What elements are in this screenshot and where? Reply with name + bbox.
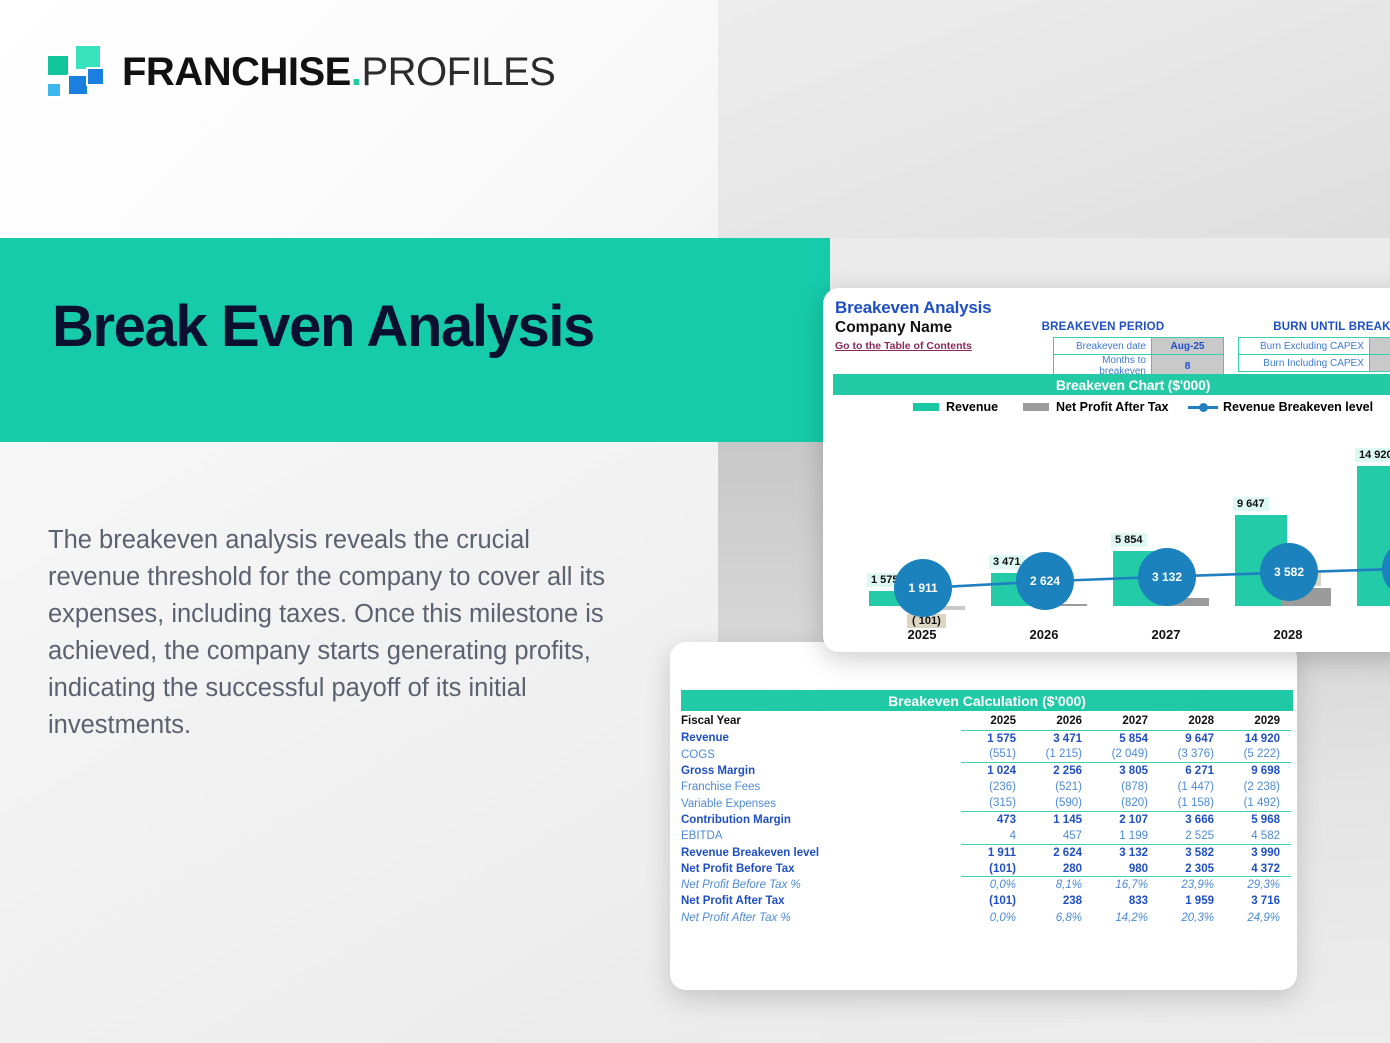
bg-panel-top-right	[718, 0, 1390, 238]
cell-6-4: 4 582	[1225, 828, 1291, 844]
column-header-2029: 2029	[1225, 714, 1291, 730]
cell-4-1: (590)	[1027, 795, 1093, 811]
cell-1-1: (1 215)	[1027, 747, 1093, 763]
cell-10-1: 238	[1027, 893, 1093, 909]
cell-0-2: 5 854	[1093, 730, 1159, 746]
cell-2-0: 1 024	[961, 763, 1027, 779]
cell-9-4: 29,3%	[1225, 877, 1291, 893]
row-label-4: Variable Expenses	[676, 795, 961, 811]
breakeven-calculation-table: Fiscal Year20252026202720282029Revenue1 …	[676, 714, 1291, 926]
cell-11-2: 14,2%	[1093, 910, 1159, 926]
legend-swatch-npat-icon	[1023, 403, 1049, 411]
breakeven-bubble-2025[interactable]: 1 911	[894, 559, 952, 617]
cell-1-0: (551)	[961, 747, 1027, 763]
table-row: Franchise Fees(236)(521)(878)(1 447)(2 2…	[676, 779, 1291, 795]
row-label-3: Franchise Fees	[676, 779, 961, 795]
cell-5-0: 473	[961, 812, 1027, 828]
cell-3-2: (878)	[1093, 779, 1159, 795]
cell-7-2: 3 132	[1093, 844, 1159, 860]
breakeven-chart-plot: 1 575( 101)1 9113 4712382 6245 8548333 1…	[823, 424, 1390, 652]
cell-5-3: 3 666	[1159, 812, 1225, 828]
table-row: Contribution Margin4731 1452 1073 6665 9…	[676, 812, 1291, 828]
row-label-9: Net Profit Before Tax %	[676, 877, 961, 893]
brand-part-two: PROFILES	[361, 50, 555, 94]
legend-item-revenue[interactable]: Revenue	[913, 400, 998, 414]
logo-square-blue-right	[86, 67, 105, 86]
table-row: Breakeven date Aug-25	[1054, 338, 1224, 355]
cell-2-2: 3 805	[1093, 763, 1159, 779]
cell-2-4: 9 698	[1225, 763, 1291, 779]
cell-11-1: 6,8%	[1027, 910, 1093, 926]
cell-11-0: 0,0%	[961, 910, 1027, 926]
cell-10-0: (101)	[961, 893, 1027, 909]
row-label-2: Gross Margin	[676, 763, 961, 779]
breakeven-bubble-2026[interactable]: 2 624	[1016, 552, 1074, 610]
logo-squares-icon	[46, 44, 104, 100]
cell-9-2: 16,7%	[1093, 877, 1159, 893]
cell-4-3: (1 158)	[1159, 795, 1225, 811]
logo-square-lightblue-bottom	[46, 82, 62, 98]
cell-0-3: 9 647	[1159, 730, 1225, 746]
cell-1-4: (5 222)	[1225, 747, 1291, 763]
column-header-2028: 2028	[1159, 714, 1225, 730]
table-row: Burn Including CAPEX	[1239, 355, 1390, 372]
brand-part-one: FRANCHISE	[122, 50, 351, 94]
cell-6-1: 457	[1027, 828, 1093, 844]
cell-0-4: 14 920	[1225, 730, 1291, 746]
cell-7-1: 2 624	[1027, 844, 1093, 860]
cell-2-3: 6 271	[1159, 763, 1225, 779]
brand-wordmark: FRANCHISE.PROFILES	[122, 52, 555, 92]
column-header-2026: 2026	[1027, 714, 1093, 730]
cell-5-1: 1 145	[1027, 812, 1093, 828]
burn-including-capex-value	[1369, 355, 1390, 372]
cell-3-4: (2 238)	[1225, 779, 1291, 795]
cell-11-3: 20,3%	[1159, 910, 1225, 926]
cell-4-0: (315)	[961, 795, 1027, 811]
table-row: Gross Margin1 0242 2563 8056 2719 698	[676, 763, 1291, 779]
cell-6-3: 2 525	[1159, 828, 1225, 844]
cell-5-2: 2 107	[1093, 812, 1159, 828]
row-label-8: Net Profit Before Tax	[676, 861, 961, 877]
legend-item-net-profit-after-tax[interactable]: Net Profit After Tax	[1023, 400, 1169, 414]
cell-3-1: (521)	[1027, 779, 1093, 795]
chart-card-company: Company Name	[835, 319, 952, 337]
intro-paragraph: The breakeven analysis reveals the cruci…	[48, 522, 628, 744]
cell-4-4: (1 492)	[1225, 795, 1291, 811]
breakeven-period-heading: BREAKEVEN PERIOD	[998, 321, 1208, 333]
cell-8-0: (101)	[961, 861, 1027, 877]
cell-10-2: 833	[1093, 893, 1159, 909]
table-row: Revenue1 5753 4715 8549 64714 920	[676, 730, 1291, 746]
column-header-2025: 2025	[961, 714, 1027, 730]
cell-8-3: 2 305	[1159, 861, 1225, 877]
cell-4-2: (820)	[1093, 795, 1159, 811]
breakeven-calculation-card: Breakeven Calculation ($'000) Fiscal Yea…	[670, 642, 1297, 990]
legend-item-revenue-breakeven-level[interactable]: Revenue Breakeven level	[1188, 400, 1373, 414]
breakeven-bubble-2028[interactable]: 3 582	[1260, 543, 1318, 601]
row-label-7: Revenue Breakeven level	[676, 844, 961, 860]
table-row: COGS(551)(1 215)(2 049)(3 376)(5 222)	[676, 747, 1291, 763]
burn-excluding-capex-value	[1369, 338, 1390, 355]
cell-1-2: (2 049)	[1093, 747, 1159, 763]
table-row: Net Profit After Tax(101)2388331 9593 71…	[676, 893, 1291, 909]
burn-until-breakeven-heading: BURN UNTIL BREAKEVEN	[1233, 321, 1390, 333]
legend-line-marker-icon	[1188, 402, 1218, 412]
cell-5-4: 5 968	[1225, 812, 1291, 828]
table-row: Variable Expenses(315)(590)(820)(1 158)(…	[676, 795, 1291, 811]
calculation-title-band: Breakeven Calculation ($'000)	[681, 690, 1293, 711]
table-row: Net Profit After Tax %0,0%6,8%14,2%20,3%…	[676, 910, 1291, 926]
cell-9-3: 23,9%	[1159, 877, 1225, 893]
bg-panel-top-left	[0, 0, 718, 238]
cell-1-3: (3 376)	[1159, 747, 1225, 763]
cell-8-1: 280	[1027, 861, 1093, 877]
brand-logo[interactable]: FRANCHISE.PROFILES	[46, 44, 555, 100]
cell-2-1: 2 256	[1027, 763, 1093, 779]
cell-8-4: 4 372	[1225, 861, 1291, 877]
chart-legend: Revenue Net Profit After Tax Revenue Bre…	[833, 400, 1390, 418]
cell-6-2: 1 199	[1093, 828, 1159, 844]
cell-7-0: 1 911	[961, 844, 1027, 860]
breakeven-level-line	[823, 424, 1390, 652]
row-label-10: Net Profit After Tax	[676, 893, 961, 909]
table-header-row: Fiscal Year20252026202720282029	[676, 714, 1291, 730]
burn-excluding-capex-label: Burn Excluding CAPEX	[1239, 338, 1370, 355]
chart-title-band: Breakeven Chart ($'000)	[833, 374, 1390, 395]
chart-card-title: Breakeven Analysis	[835, 298, 991, 318]
breakeven-period-table: Breakeven date Aug-25 Months to breakeve…	[1053, 337, 1224, 378]
table-row: Net Profit Before Tax %0,0%8,1%16,7%23,9…	[676, 877, 1291, 893]
burn-until-breakeven-table: Burn Excluding CAPEX Burn Including CAPE…	[1238, 337, 1390, 372]
table-row: Net Profit Before Tax(101)2809802 3054 3…	[676, 861, 1291, 877]
cell-10-3: 1 959	[1159, 893, 1225, 909]
cell-6-0: 4	[961, 828, 1027, 844]
table-row: Burn Excluding CAPEX	[1239, 338, 1390, 355]
breakeven-chart-card: Breakeven Analysis Company Name Go to th…	[823, 288, 1390, 652]
page-title: Break Even Analysis	[52, 298, 594, 356]
column-header-2027: 2027	[1093, 714, 1159, 730]
breakeven-date-label: Breakeven date	[1054, 338, 1152, 355]
cell-10-4: 3 716	[1225, 893, 1291, 909]
legend-label-revenue: Revenue	[946, 400, 998, 414]
cell-3-3: (1 447)	[1159, 779, 1225, 795]
cell-11-4: 24,9%	[1225, 910, 1291, 926]
cell-9-0: 0,0%	[961, 877, 1027, 893]
cell-3-0: (236)	[961, 779, 1027, 795]
row-label-6: EBITDA	[676, 828, 961, 844]
brand-dot: .	[351, 50, 362, 94]
table-row: Revenue Breakeven level1 9112 6243 1323 …	[676, 844, 1291, 860]
cell-0-0: 1 575	[961, 730, 1027, 746]
table-row: EBITDA44571 1992 5254 582	[676, 828, 1291, 844]
legend-swatch-revenue-icon	[913, 403, 939, 411]
table-of-contents-link[interactable]: Go to the Table of Contents	[835, 340, 972, 352]
row-label-0: Revenue	[676, 730, 961, 746]
row-label-5: Contribution Margin	[676, 812, 961, 828]
cell-7-4: 3 990	[1225, 844, 1291, 860]
breakeven-bubble-2027[interactable]: 3 132	[1138, 548, 1196, 606]
burn-including-capex-label: Burn Including CAPEX	[1239, 355, 1370, 372]
cell-8-2: 980	[1093, 861, 1159, 877]
cell-9-1: 8,1%	[1027, 877, 1093, 893]
row-label-1: COGS	[676, 747, 961, 763]
cell-0-1: 3 471	[1027, 730, 1093, 746]
legend-label-npat: Net Profit After Tax	[1056, 400, 1169, 414]
row-label-11: Net Profit After Tax %	[676, 910, 961, 926]
legend-label-breakeven: Revenue Breakeven level	[1223, 400, 1373, 414]
column-header-fiscal-year: Fiscal Year	[676, 714, 961, 730]
breakeven-date-value: Aug-25	[1152, 338, 1224, 355]
cell-7-3: 3 582	[1159, 844, 1225, 860]
